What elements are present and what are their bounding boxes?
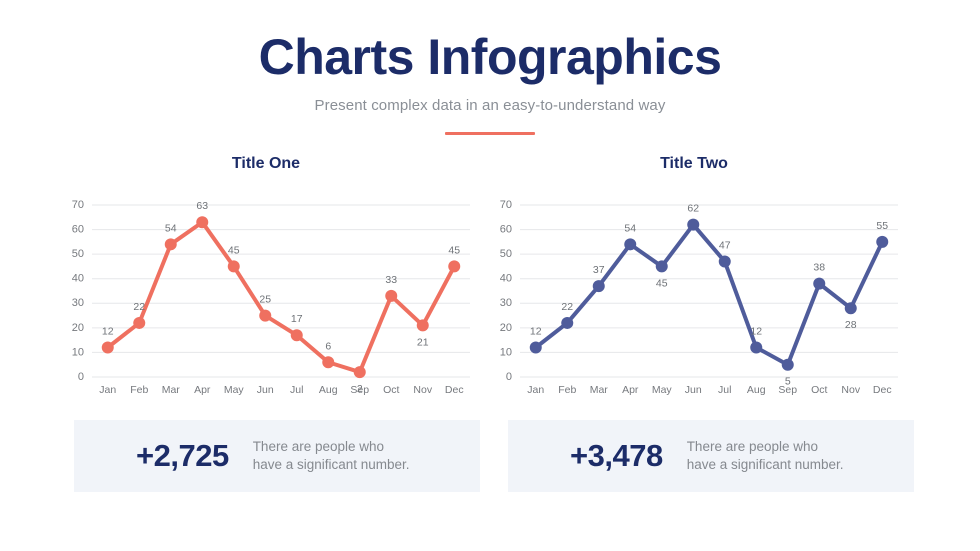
svg-text:28: 28 — [845, 319, 857, 331]
svg-text:70: 70 — [72, 199, 84, 211]
stat-one-line2: have a significant number. — [253, 456, 460, 474]
svg-text:Jul: Jul — [718, 384, 731, 396]
svg-text:Feb: Feb — [558, 384, 576, 396]
svg-text:50: 50 — [72, 248, 84, 260]
chart-one-title: Title One — [56, 155, 476, 173]
svg-text:70: 70 — [500, 199, 512, 211]
svg-text:Jan: Jan — [99, 384, 116, 396]
header: Charts Infographics Present complex data… — [0, 30, 980, 135]
svg-text:0: 0 — [78, 371, 84, 383]
svg-text:Apr: Apr — [622, 384, 639, 396]
svg-text:Aug: Aug — [319, 384, 338, 396]
svg-text:40: 40 — [500, 273, 512, 285]
svg-text:40: 40 — [72, 273, 84, 285]
stat-one-description: There are people who have a significant … — [253, 438, 460, 474]
svg-text:22: 22 — [133, 301, 145, 313]
svg-text:63: 63 — [196, 200, 208, 212]
chart-two-svg: 010203040506070JanFebMarAprMayJunJulAugS… — [484, 193, 904, 405]
page-title: Charts Infographics — [0, 30, 980, 85]
svg-text:Jun: Jun — [685, 384, 702, 396]
svg-text:38: 38 — [813, 262, 825, 274]
accent-divider — [445, 132, 535, 135]
stat-one-number: +2,725 — [94, 438, 229, 474]
svg-text:Oct: Oct — [383, 384, 399, 396]
svg-text:45: 45 — [448, 244, 460, 256]
stat-two-line1: There are people who — [687, 438, 894, 456]
chart-panel-two: Title Two 010203040506070JanFebMarAprMay… — [484, 155, 904, 405]
page-subtitle: Present complex data in an easy-to-under… — [0, 97, 980, 114]
stat-two-number: +3,478 — [528, 438, 663, 474]
svg-text:Aug: Aug — [747, 384, 766, 396]
svg-text:47: 47 — [719, 240, 731, 252]
svg-text:55: 55 — [876, 220, 888, 232]
svg-text:0: 0 — [506, 371, 512, 383]
stat-one-line1: There are people who — [253, 438, 460, 456]
svg-text:62: 62 — [687, 203, 699, 215]
svg-text:60: 60 — [500, 223, 512, 235]
svg-text:12: 12 — [750, 326, 762, 338]
svg-text:Feb: Feb — [130, 384, 148, 396]
svg-text:25: 25 — [259, 294, 271, 306]
svg-text:20: 20 — [500, 322, 512, 334]
svg-text:Oct: Oct — [811, 384, 827, 396]
svg-text:Jul: Jul — [290, 384, 303, 396]
svg-text:Jan: Jan — [527, 384, 544, 396]
svg-text:20: 20 — [72, 322, 84, 334]
svg-text:May: May — [224, 384, 245, 396]
svg-text:5: 5 — [785, 376, 791, 388]
stat-two-description: There are people who have a significant … — [687, 438, 894, 474]
svg-text:Nov: Nov — [841, 384, 860, 396]
svg-text:12: 12 — [102, 326, 114, 338]
svg-text:May: May — [652, 384, 673, 396]
svg-text:17: 17 — [291, 313, 303, 325]
svg-text:Dec: Dec — [873, 384, 892, 396]
chart-panel-one: Title One 010203040506070JanFebMarAprMay… — [56, 155, 476, 405]
stat-two-line2: have a significant number. — [687, 456, 894, 474]
svg-text:54: 54 — [165, 222, 177, 234]
svg-text:54: 54 — [624, 222, 636, 234]
chart-two-title: Title Two — [484, 155, 904, 173]
svg-text:Dec: Dec — [445, 384, 464, 396]
chart-one-svg: 010203040506070JanFebMarAprMayJunJulAugS… — [56, 193, 476, 405]
svg-text:Nov: Nov — [413, 384, 432, 396]
stat-card-one: +2,725 There are people who have a signi… — [74, 420, 480, 492]
svg-text:2: 2 — [357, 383, 363, 395]
svg-text:6: 6 — [325, 340, 331, 352]
stat-card-two: +3,478 There are people who have a signi… — [508, 420, 914, 492]
svg-text:30: 30 — [500, 297, 512, 309]
svg-text:Mar: Mar — [162, 384, 181, 396]
svg-text:60: 60 — [72, 223, 84, 235]
svg-text:30: 30 — [72, 297, 84, 309]
svg-text:21: 21 — [417, 336, 429, 348]
svg-text:37: 37 — [593, 264, 605, 276]
chart-one-area: 010203040506070JanFebMarAprMayJunJulAugS… — [56, 193, 476, 405]
svg-text:Apr: Apr — [194, 384, 211, 396]
svg-text:50: 50 — [500, 248, 512, 260]
svg-text:45: 45 — [228, 244, 240, 256]
svg-text:10: 10 — [72, 346, 84, 358]
svg-text:10: 10 — [500, 346, 512, 358]
chart-two-area: 010203040506070JanFebMarAprMayJunJulAugS… — [484, 193, 904, 405]
svg-text:Jun: Jun — [257, 384, 274, 396]
svg-text:33: 33 — [385, 274, 397, 286]
svg-text:Mar: Mar — [590, 384, 609, 396]
svg-text:12: 12 — [530, 326, 542, 338]
svg-text:45: 45 — [656, 277, 668, 289]
svg-text:22: 22 — [561, 301, 573, 313]
